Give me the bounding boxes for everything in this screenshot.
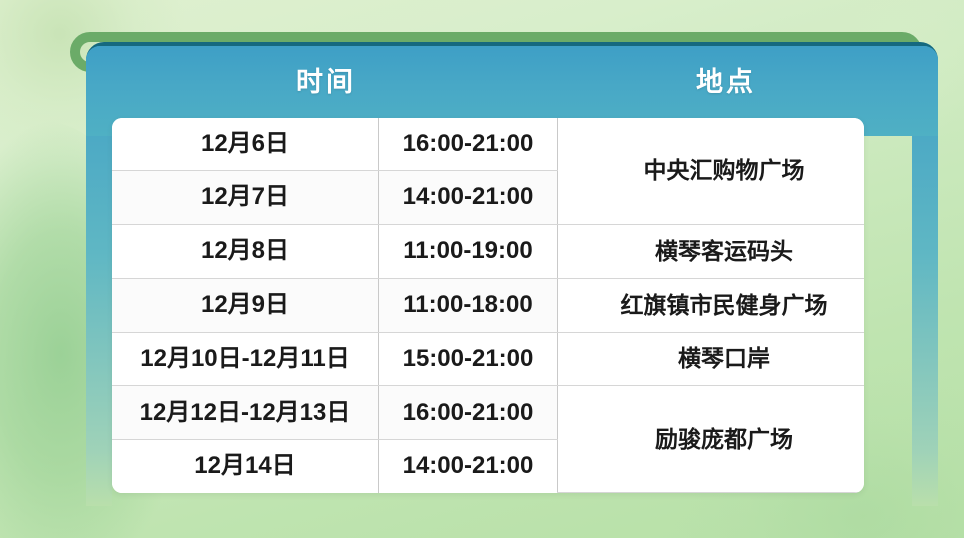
column-header-place: 地点 — [540, 60, 912, 99]
poster-stage: 时间 地点 12月6日16:00-21:00中央汇购物广场12月7日14:00-… — [0, 0, 964, 538]
cell-time: 11:00-19:00 — [379, 225, 558, 279]
schedule-table-body: 12月6日16:00-21:00中央汇购物广场12月7日14:00-21:001… — [112, 118, 864, 493]
schedule-table: 12月6日16:00-21:00中央汇购物广场12月7日14:00-21:001… — [112, 118, 864, 493]
cell-time: 11:00-18:00 — [379, 278, 558, 332]
schedule-card: 12月6日16:00-21:00中央汇购物广场12月7日14:00-21:001… — [112, 118, 864, 493]
table-row: 12月10日-12月11日15:00-21:00横琴口岸 — [112, 332, 864, 386]
cell-place: 中央汇购物广场 — [558, 118, 865, 225]
cell-place: 横琴口岸 — [558, 332, 865, 386]
table-row: 12月12日-12月13日16:00-21:00励骏庞都广场 — [112, 386, 864, 440]
table-row: 12月6日16:00-21:00中央汇购物广场 — [112, 118, 864, 171]
cell-place: 横琴客运码头 — [558, 225, 865, 279]
table-row: 12月8日11:00-19:00横琴客运码头 — [112, 225, 864, 279]
cell-time: 16:00-21:00 — [379, 118, 558, 171]
table-row: 12月9日11:00-18:00红旗镇市民健身广场 — [112, 278, 864, 332]
column-header-time: 时间 — [112, 60, 540, 99]
cell-date: 12月7日 — [112, 171, 379, 225]
cell-time: 16:00-21:00 — [379, 386, 558, 440]
cell-date: 12月12日-12月13日 — [112, 386, 379, 440]
cell-date: 12月6日 — [112, 118, 379, 171]
cell-date: 12月14日 — [112, 440, 379, 493]
cell-time: 14:00-21:00 — [379, 440, 558, 493]
cell-date: 12月9日 — [112, 278, 379, 332]
cell-time: 14:00-21:00 — [379, 171, 558, 225]
cell-date: 12月10日-12月11日 — [112, 332, 379, 386]
cell-place: 红旗镇市民健身广场 — [558, 278, 865, 332]
cell-place: 励骏庞都广场 — [558, 386, 865, 493]
cell-date: 12月8日 — [112, 225, 379, 279]
cell-time: 15:00-21:00 — [379, 332, 558, 386]
